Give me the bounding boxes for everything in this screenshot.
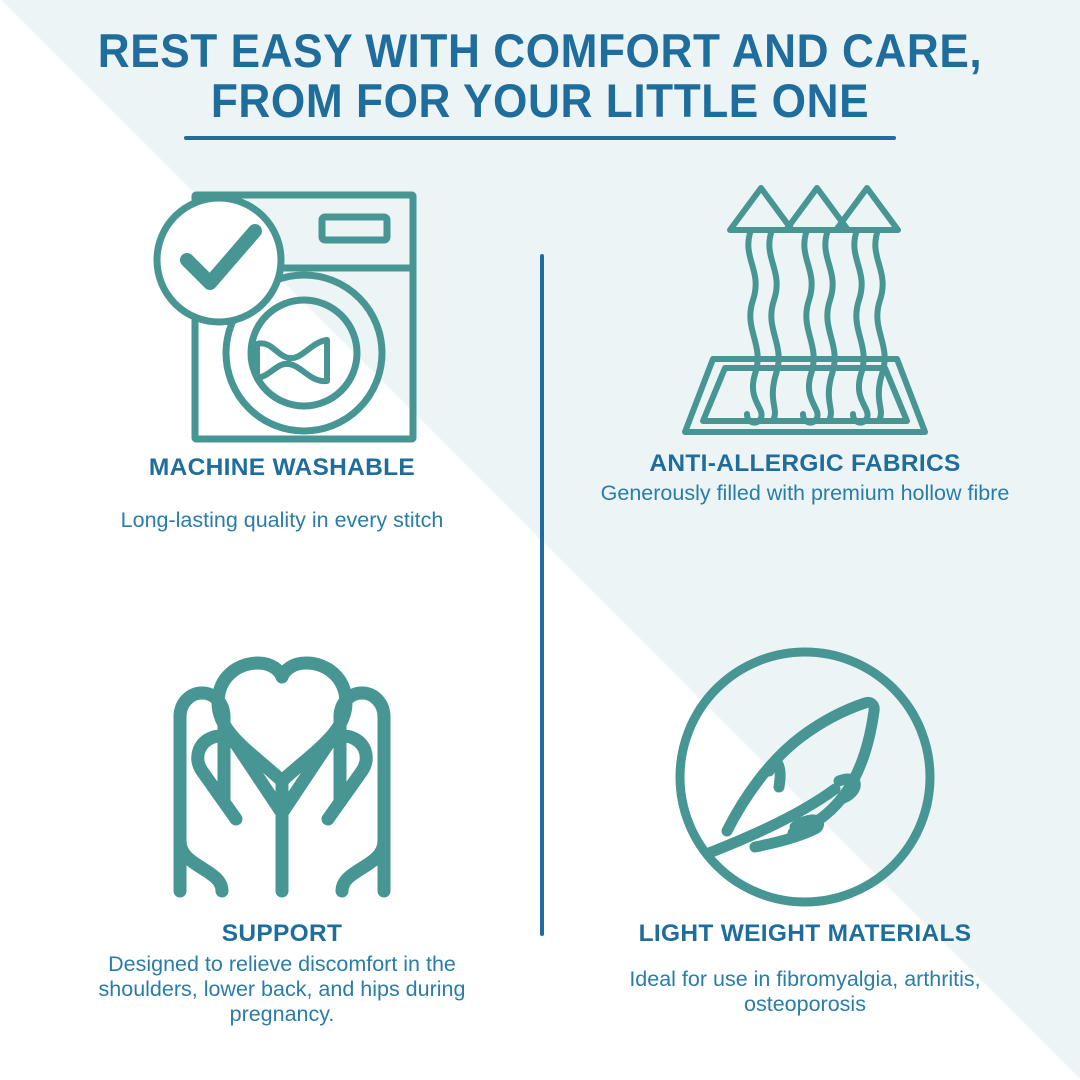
feature-title: MACHINE WASHABLE	[62, 454, 502, 481]
feature-description: Designed to relieve discomfort in the sh…	[62, 952, 502, 1027]
feature-title: ANTI-ALLERGIC FABRICS	[585, 450, 1025, 477]
title-underline	[184, 136, 896, 140]
breathable-airflow-mattress-icon	[675, 178, 935, 446]
washing-machine-check-icon	[137, 168, 427, 450]
icon-container	[585, 176, 1025, 448]
feature-description: Generously filled with premium hollow fi…	[585, 481, 1025, 506]
icon-container	[62, 636, 502, 918]
feather-in-circle-icon	[669, 641, 941, 913]
feature-anti-allergic: ANTI-ALLERGIC FABRICS Generously filled …	[585, 176, 1025, 506]
feature-description: Ideal for use in fibromyalgia, arthritis…	[585, 967, 1025, 1017]
feature-machine-washable: MACHINE WASHABLE Long-lasting quality in…	[62, 168, 502, 533]
page-title: REST EASY WITH COMFORT AND CARE, FROM FO…	[0, 26, 1080, 140]
feature-light-weight: LIGHT WEIGHT MATERIALS Ideal for use in …	[585, 636, 1025, 1017]
hands-holding-heart-icon	[146, 641, 418, 913]
feature-description: Long-lasting quality in every stitch	[62, 508, 502, 533]
vertical-divider	[540, 254, 544, 936]
feature-support: SUPPORT Designed to relieve discomfort i…	[62, 636, 502, 1027]
feature-title: SUPPORT	[62, 920, 502, 947]
title-line-1: REST EASY WITH COMFORT AND CARE,	[32, 26, 1047, 76]
icon-container	[62, 168, 502, 450]
infographic-page: REST EASY WITH COMFORT AND CARE, FROM FO…	[0, 0, 1080, 1080]
title-line-2: FROM FOR YOUR LITTLE ONE	[32, 76, 1047, 126]
icon-container	[585, 636, 1025, 918]
feature-title: LIGHT WEIGHT MATERIALS	[585, 920, 1025, 947]
